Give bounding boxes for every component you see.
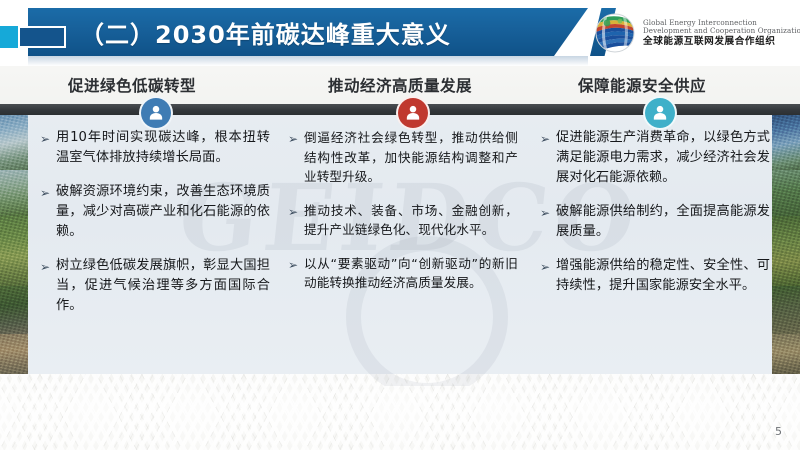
photo-grain-overlay (770, 112, 800, 374)
page-title: （二）2030年前碳达峰重大意义 (80, 15, 451, 50)
logo-name-cn: 全球能源互联网发展合作组织 (643, 37, 800, 48)
photo-grain-overlay (0, 112, 30, 374)
title-bar: （二）2030年前碳达峰重大意义 (28, 8, 588, 56)
bullet-arrow-icon: ➢ (540, 202, 556, 223)
page-number: 5 (775, 425, 782, 438)
bullet-arrow-icon: ➢ (288, 128, 304, 149)
person-icon-3 (643, 96, 677, 130)
photo-strip-right (770, 112, 800, 374)
column-heading-2: 推动经济高质量发展 (328, 74, 472, 96)
bullet-text: 破解能源供给制约，全面提高能源发展质量。 (556, 202, 770, 242)
bullet-arrow-icon: ➢ (288, 254, 304, 275)
bullet-arrow-icon: ➢ (40, 256, 56, 277)
bullet-text: 倒逼经济社会绿色转型，推动供给侧结构性改革，加快能源结构调整和产业转型升级。 (304, 128, 518, 187)
bullet-item: ➢ 以从“要素驱动”向“创新驱动”的新旧动能转换推动经济高质量发展。 (288, 254, 518, 293)
bullet-arrow-icon: ➢ (40, 182, 56, 203)
bullet-item: ➢ 增强能源供给的稳定性、安全性、可持续性，提升国家能源安全水平。 (540, 256, 770, 296)
bullet-item: ➢ 破解能源供给制约，全面提高能源发展质量。 (540, 202, 770, 242)
column-heading-3: 保障能源安全供应 (578, 74, 706, 96)
geidco-logo: Global Energy Interconnection Developmen… (594, 8, 800, 58)
bullet-item: ➢ 促进能源生产消费革命，以绿色方式满足能源电力需求，减少经济社会发展对化石能源… (540, 128, 770, 188)
bullet-text: 树立绿色低碳发展旗帜，彰显大国担当，促进气候治理等多方面国际合作。 (56, 256, 270, 316)
photo-strip-left (0, 112, 30, 374)
header-underline (28, 56, 588, 66)
bullet-arrow-icon: ➢ (540, 256, 556, 277)
person-icon-1 (139, 96, 173, 130)
logo-name-en-line2: Development and Cooperation Organization (643, 27, 800, 35)
bullet-text: 破解资源环境约束，改善生态环境质量，减少对高碳产业和化石能源的依赖。 (56, 182, 270, 242)
bullet-item: ➢ 用10年时间实现碳达峰，根本扭转温室气体排放持续增长局面。 (40, 128, 270, 168)
bullet-item: ➢ 破解资源环境约束，改善生态环境质量，减少对高碳产业和化石能源的依赖。 (40, 182, 270, 242)
bullet-text: 促进能源生产消费革命，以绿色方式满足能源电力需求，减少经济社会发展对化石能源依赖… (556, 128, 770, 188)
bullet-column-2: ➢ 倒逼经济社会绿色转型，推动供给侧结构性改革，加快能源结构调整和产业转型升级。… (288, 128, 518, 307)
slide-root: GEIDCO 促进绿色低碳转型 推动经济高质量发展 保障能源安全供应 ➢ 用10… (0, 0, 800, 450)
bullet-column-3: ➢ 促进能源生产消费革命，以绿色方式满足能源电力需求，减少经济社会发展对化石能源… (540, 128, 770, 310)
globe-icon (594, 12, 636, 54)
person-icon-2 (396, 96, 430, 130)
bullet-column-1: ➢ 用10年时间实现碳达峰，根本扭转温室气体排放持续增长局面。 ➢ 破解资源环境… (40, 128, 270, 330)
bullet-item: ➢ 倒逼经济社会绿色转型，推动供给侧结构性改革，加快能源结构调整和产业转型升级。 (288, 128, 518, 187)
bullet-text: 推动技术、装备、市场、金融创新，提升产业链绿色化、现代化水平。 (304, 201, 518, 240)
header-accent-navy (18, 26, 66, 48)
bullet-arrow-icon: ➢ (540, 128, 556, 149)
bullet-text: 以从“要素驱动”向“创新驱动”的新旧动能转换推动经济高质量发展。 (304, 254, 518, 293)
logo-wordmark: Global Energy Interconnection Developmen… (643, 19, 800, 48)
bullet-item: ➢ 推动技术、装备、市场、金融创新，提升产业链绿色化、现代化水平。 (288, 201, 518, 240)
column-heading-1: 促进绿色低碳转型 (68, 74, 196, 96)
bullet-item: ➢ 树立绿色低碳发展旗帜，彰显大国担当，促进气候治理等多方面国际合作。 (40, 256, 270, 316)
background-mesh-texture (0, 372, 800, 450)
bullet-arrow-icon: ➢ (40, 128, 56, 149)
header-accent-cyan (0, 26, 18, 48)
bullet-text: 增强能源供给的稳定性、安全性、可持续性，提升国家能源安全水平。 (556, 256, 770, 296)
bullet-text: 用10年时间实现碳达峰，根本扭转温室气体排放持续增长局面。 (56, 128, 270, 168)
bullet-arrow-icon: ➢ (288, 201, 304, 222)
